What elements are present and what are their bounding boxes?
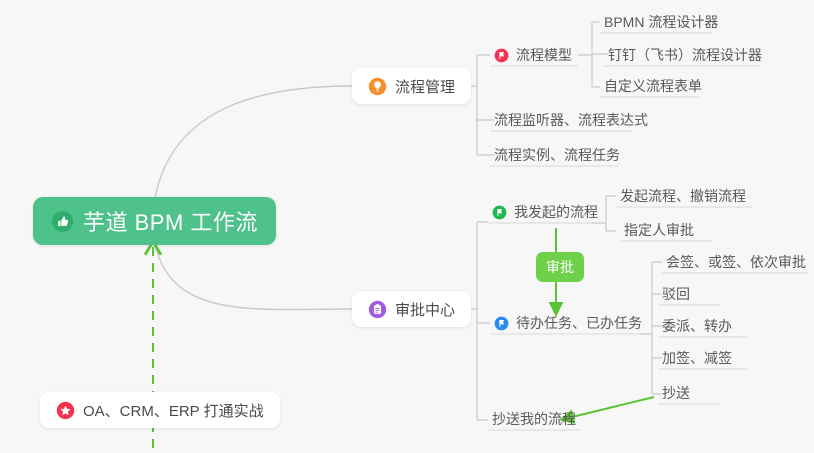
approval-flow-tag-label: 审批 [546,257,574,277]
node-carbon-copy[interactable]: 抄送 [660,380,692,406]
node-process-model[interactable]: 流程模型 [492,42,574,68]
countersign-orsign-sequential-label: 会签、或签、依次审批 [666,252,806,272]
node-cc-to-me-process[interactable]: 抄送我的流程 [490,406,578,432]
node-assignee-approval[interactable]: 指定人审批 [622,217,696,243]
node-bpmn-designer[interactable]: BPMN 流程设计器 [602,9,720,35]
node-todo-done-task[interactable]: 待办任务、已办任务 [492,310,644,336]
node-process-instance-task[interactable]: 流程实例、流程任务 [492,142,622,168]
cc-to-me-process-label: 抄送我的流程 [492,409,576,429]
node-start-cancel-process[interactable]: 发起流程、撤销流程 [618,183,748,209]
add-remove-sign-label: 加签、减签 [662,348,732,368]
process-instance-task-label: 流程实例、流程任务 [494,145,620,165]
node-delegate-transfer[interactable]: 委派、转办 [660,313,734,339]
process-listener-expression-label: 流程监听器、流程表达式 [494,110,648,130]
thumbs-up-icon [51,210,74,233]
my-started-process-label: 我发起的流程 [514,202,598,222]
custom-process-form-label: 自定义流程表单 [604,76,702,96]
todo-done-task-label: 待办任务、已办任务 [516,313,642,333]
process-model-label: 流程模型 [516,45,572,65]
assignee-approval-label: 指定人审批 [624,220,694,240]
carbon-copy-label: 抄送 [662,383,690,403]
node-approval-center[interactable]: 审批中心 [352,291,471,327]
node-process-management[interactable]: 流程管理 [352,68,471,104]
mindmap-canvas: 芋道 BPM 工作流 流程管理 流程模型 BPMN 流程设计器 钉钉（飞书）流程… [0,0,814,453]
clipboard-icon [368,300,387,319]
root-label: 芋道 BPM 工作流 [83,205,258,237]
delegate-transfer-label: 委派、转办 [662,316,732,336]
edge-root-to-approval-center [155,244,352,310]
practice-card-label: OA、CRM、ERP 打通实战 [83,400,264,421]
node-practice-card[interactable]: OA、CRM、ERP 打通实战 [40,392,280,428]
node-add-remove-sign[interactable]: 加签、减签 [660,345,734,371]
approval-flow-tag: 审批 [536,252,584,282]
node-process-listener-expression[interactable]: 流程监听器、流程表达式 [492,107,650,133]
flag-icon [492,205,507,220]
reject-label: 驳回 [662,284,690,304]
node-dingtalk-feishu-designer[interactable]: 钉钉（飞书）流程设计器 [606,42,764,68]
node-countersign-orsign-sequential[interactable]: 会签、或签、依次审批 [664,249,808,275]
node-reject[interactable]: 驳回 [660,281,692,307]
flag-icon [494,316,509,331]
start-cancel-process-label: 发起流程、撤销流程 [620,186,746,206]
star-icon [56,401,75,420]
node-my-started-process[interactable]: 我发起的流程 [490,199,600,225]
edge-root-to-process-management [155,86,352,198]
flag-icon [494,48,509,63]
process-management-label: 流程管理 [395,76,455,97]
approval-center-label: 审批中心 [395,299,455,320]
lightbulb-icon [368,77,387,96]
node-root[interactable]: 芋道 BPM 工作流 [33,197,276,245]
dingtalk-feishu-designer-label: 钉钉（飞书）流程设计器 [608,45,762,65]
node-custom-process-form[interactable]: 自定义流程表单 [602,73,704,99]
bpmn-designer-label: BPMN 流程设计器 [604,12,718,32]
